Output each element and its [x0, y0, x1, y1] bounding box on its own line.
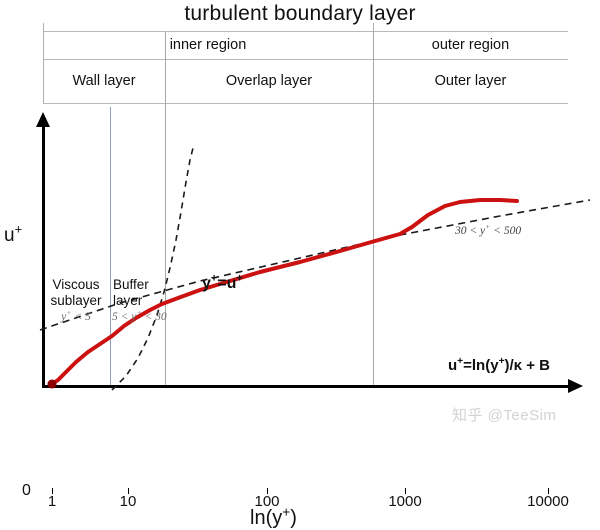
table-edge-left [43, 23, 44, 103]
buffer-layer-range: 5 < y+ < 30 [112, 311, 188, 323]
x-tick-label: 1000 [388, 493, 421, 510]
watermark: 知乎 @TeeSim [452, 404, 556, 425]
layer-label-outer: Outer layer [373, 73, 568, 89]
x-tick-label: 10 [120, 493, 137, 510]
layer-label-overlap: Overlap layer [165, 73, 373, 89]
annotation-buffer-layer: Buffer layer [113, 277, 171, 308]
buffer-layer-line2: layer [113, 293, 142, 308]
y-axis-label: u+ [4, 225, 22, 247]
plot-area: Viscous sublayer y+ < 5 Buffer layer 5 <… [0, 107, 600, 437]
table-line-bottom [43, 103, 568, 104]
region-label-outer: outer region [373, 37, 568, 53]
curve-linear-law [112, 148, 193, 390]
annotation-viscous-sublayer: Viscous sublayer [42, 277, 110, 308]
origin-label: 0 [22, 482, 31, 500]
table-line-mid [43, 59, 568, 60]
origin-marker [48, 380, 57, 389]
x-tick-label: 10000 [527, 493, 569, 510]
outer-layer-range: 30 < y+ < 500 [455, 225, 521, 237]
diagram-root: turbulent boundary layer inner region ou… [0, 0, 600, 437]
viscous-sublayer-line2: sublayer [50, 293, 101, 308]
layer-label-wall: Wall layer [43, 73, 165, 89]
x-tick-label: 1 [48, 493, 56, 510]
linear-law-label: y+=u+ [202, 275, 243, 293]
log-law-label: u+=ln(y+)/κ + B [448, 357, 550, 374]
table-line-top [43, 31, 568, 32]
curves-svg [0, 107, 600, 437]
region-label-inner: inner region [43, 37, 373, 53]
viscous-sublayer-range: y+ < 5 [42, 311, 110, 323]
buffer-layer-line1: Buffer [113, 277, 149, 292]
region-header-table: inner region outer region Wall layer Ove… [43, 31, 568, 107]
x-axis-label: ln(y+) [250, 507, 297, 530]
x-tick-label: 100 [254, 493, 279, 510]
page-title: turbulent boundary layer [0, 2, 600, 26]
viscous-sublayer-line1: Viscous [52, 277, 99, 292]
